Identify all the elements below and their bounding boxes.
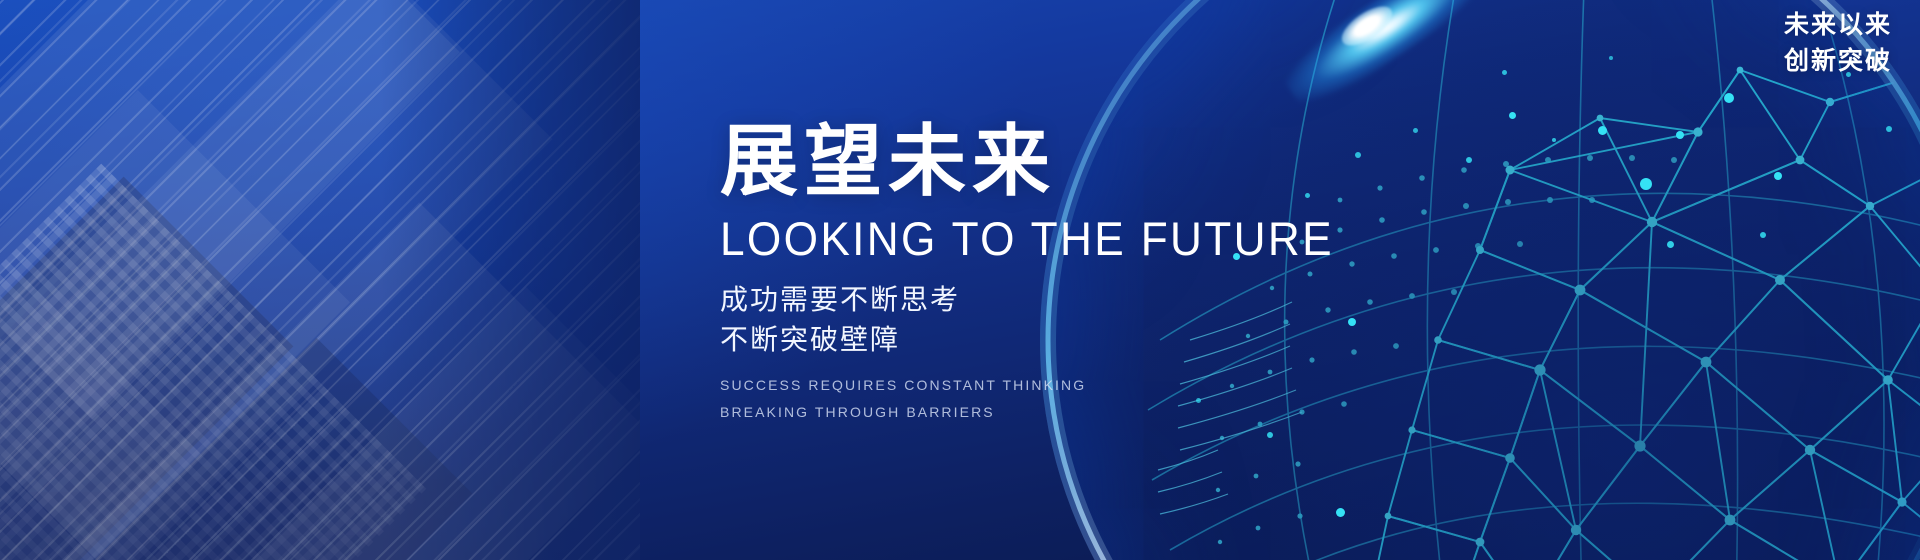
particle [1609,56,1613,60]
decor-panel-dark-1 [0,177,293,560]
decor-panel-2 [0,0,553,560]
halftone-dot-grid-icon [0,164,426,560]
particle [1598,126,1607,135]
decor-panel-1 [0,0,460,420]
page-subtitle-en: LOOKING TO THE FUTURE [720,213,1434,265]
tagline-cn-line-1: 成功需要不断思考 [720,280,1480,320]
decor-panel-dark-2 [48,338,472,560]
tagline-cn-line-2: 不断突破壁障 [720,320,1480,360]
decor-panel-6 [222,287,640,560]
particle [1667,241,1674,248]
particle [1724,93,1734,103]
corner-slogan-line-1: 未来以来 [1784,8,1892,44]
left-decor-fade [380,0,640,560]
particle [1640,178,1652,190]
particle [1552,138,1556,142]
banner: 展望未来 LOOKING TO THE FUTURE 成功需要不断思考 不断突破… [0,0,1920,560]
decor-panel-3 [0,90,350,560]
left-geometric-decoration [0,0,640,560]
headline-block: 展望未来 LOOKING TO THE FUTURE 成功需要不断思考 不断突破… [720,120,1480,426]
tagline-en: SUCCESS REQUIRES CONSTANT THINKING BREAK… [720,372,1480,427]
particle [1886,126,1892,132]
particle [1509,112,1516,119]
decor-panel-5 [0,270,200,560]
particle [1267,432,1273,438]
particle [1336,508,1345,517]
corner-slogan: 未来以来 创新突破 [1784,8,1892,79]
diagonal-hairlines-icon [0,0,640,560]
lens-flare-icon [1275,0,1499,117]
particle [1760,232,1766,238]
tagline-cn: 成功需要不断思考 不断突破壁障 [720,280,1480,360]
decor-panel-4 [37,202,640,560]
tagline-en-line-1: SUCCESS REQUIRES CONSTANT THINKING [720,372,1480,399]
page-title: 展望未来 [720,120,1480,203]
lens-flare-core-icon [1336,0,1399,53]
diagonal-hairlines-secondary-icon [0,0,640,560]
particle [1774,172,1782,180]
tagline-en-line-2: BREAKING THROUGH BARRIERS [720,399,1480,426]
particle [1676,131,1684,139]
corner-slogan-line-2: 创新突破 [1784,44,1892,80]
particle [1502,70,1507,75]
